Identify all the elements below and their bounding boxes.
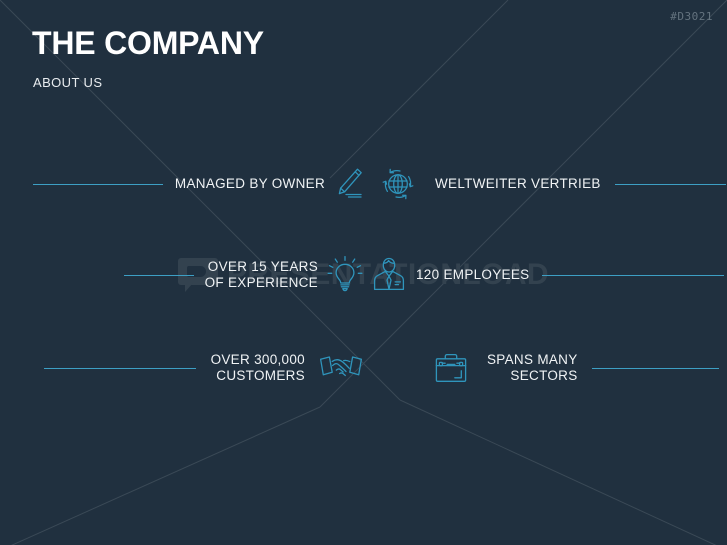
stat-item-over-300000-customers: OVER 300,000 CUSTOMERS xyxy=(0,352,363,385)
stat-label-120-employees: 120 EMPLOYEES xyxy=(416,267,529,283)
stat-item-spans-many-sectors: SPANS MANY SECTORS xyxy=(363,351,727,385)
pencil-icon xyxy=(333,167,363,201)
stat-item-weltweiter-vertrieb: WELTWEITER VERTRIEB xyxy=(363,166,727,202)
stat-item-120-employees: 120 EMPLOYEES xyxy=(363,255,727,295)
lightbulb-icon xyxy=(327,255,363,295)
stat-label-managed-by-owner: MANAGED BY OWNER xyxy=(175,176,325,192)
page-subtitle: ABOUT US xyxy=(33,75,102,90)
briefcase-icon xyxy=(433,351,469,385)
stat-item-managed-by-owner: MANAGED BY OWNER xyxy=(0,167,363,201)
stat-label-over-300000-customers: OVER 300,000 CUSTOMERS xyxy=(211,352,305,385)
connector-line-right-1 xyxy=(615,184,726,185)
stat-row-1: MANAGED BY OWNER xyxy=(0,162,727,206)
stat-item-over-15-years: OVER 15 YEARS OF EXPERIENCE xyxy=(0,255,363,295)
employee-icon xyxy=(371,255,407,295)
stat-row-3: OVER 300,000 CUSTOMERS xyxy=(0,345,727,391)
connector-line-left-2 xyxy=(124,275,194,276)
connector-line-right-3 xyxy=(592,368,719,369)
slide-code: #D3021 xyxy=(670,10,713,23)
stat-label-over-15-years: OVER 15 YEARS OF EXPERIENCE xyxy=(205,259,318,292)
connector-line-right-2 xyxy=(542,275,724,276)
stat-row-2: OVER 15 YEARS OF EXPERIENCE xyxy=(0,252,727,298)
stat-label-spans-many-sectors: SPANS MANY SECTORS xyxy=(487,352,578,385)
connector-line-left-1 xyxy=(33,184,163,185)
handshake-icon xyxy=(319,353,363,383)
globe-icon xyxy=(380,166,416,202)
slide-canvas: PRESENTATIONLOAD THE COMPANY ABOUT US #D… xyxy=(0,0,727,545)
connector-line-left-3 xyxy=(44,368,196,369)
page-title: THE COMPANY xyxy=(32,26,264,61)
stat-label-weltweiter-vertrieb: WELTWEITER VERTRIEB xyxy=(435,176,601,192)
